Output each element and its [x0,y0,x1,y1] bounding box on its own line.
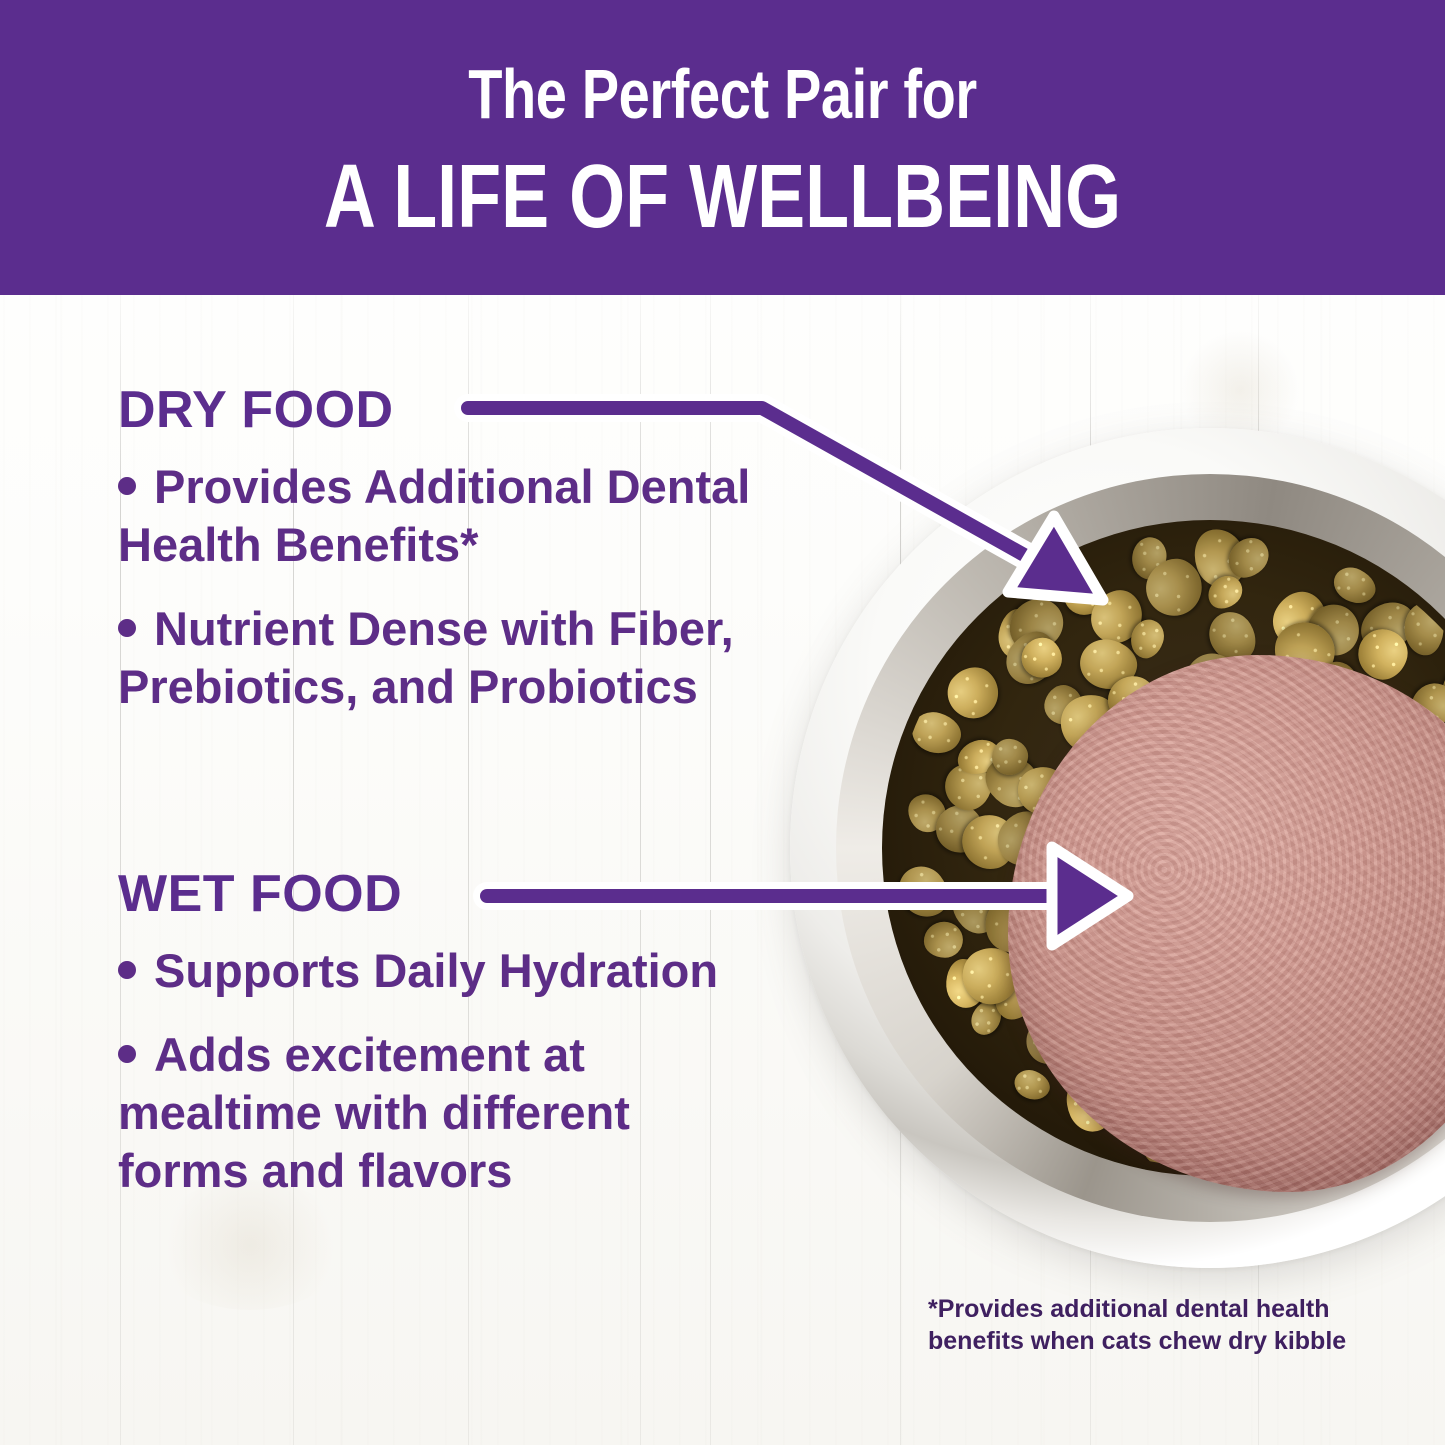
list-item: Nutrient Dense with Fiber, Prebiotics, a… [118,600,758,716]
header-banner: The Perfect Pair for A LIFE OF WELLBEING [0,0,1445,295]
wet-food-title: WET FOOD [118,868,758,920]
headline-primary: The Perfect Pair for [145,58,1301,130]
bullet-dot-icon [118,961,136,979]
list-item: Supports Daily Hydration [118,942,758,1000]
dry-food-title: DRY FOOD [118,384,758,436]
poster-canvas: The Perfect Pair for A LIFE OF WELLBEING… [0,0,1445,1445]
kibble-piece [924,922,963,958]
list-item-text: Nutrient Dense with Fiber, Prebiotics, a… [118,602,734,713]
wet-food-bullet-list: Supports Daily Hydration Adds excitement… [118,942,758,1200]
wet-food-callout: WET FOOD Supports Daily Hydration Adds e… [118,868,758,1226]
list-item-text: Adds excitement at mealtime with differe… [118,1028,630,1197]
dry-food-bullet-list: Provides Additional Dental Health Benefi… [118,458,758,716]
bullet-dot-icon [118,619,136,637]
list-item-text: Supports Daily Hydration [154,944,718,997]
list-item-text: Provides Additional Dental Health Benefi… [118,460,750,571]
food-bowl-image [790,428,1445,1268]
headline-secondary: A LIFE OF WELLBEING [145,152,1301,242]
list-item: Adds excitement at mealtime with differe… [118,1026,758,1200]
kibble-piece [891,857,959,927]
bullet-dot-icon [118,1045,136,1063]
footnote-text: *Provides additional dental health benef… [928,1293,1368,1357]
bullet-dot-icon [118,477,136,495]
kibble-piece [1010,1065,1054,1105]
list-item: Provides Additional Dental Health Benefi… [118,458,758,574]
dry-food-callout: DRY FOOD Provides Additional Dental Heal… [118,384,758,742]
kibble-piece [1404,603,1443,656]
